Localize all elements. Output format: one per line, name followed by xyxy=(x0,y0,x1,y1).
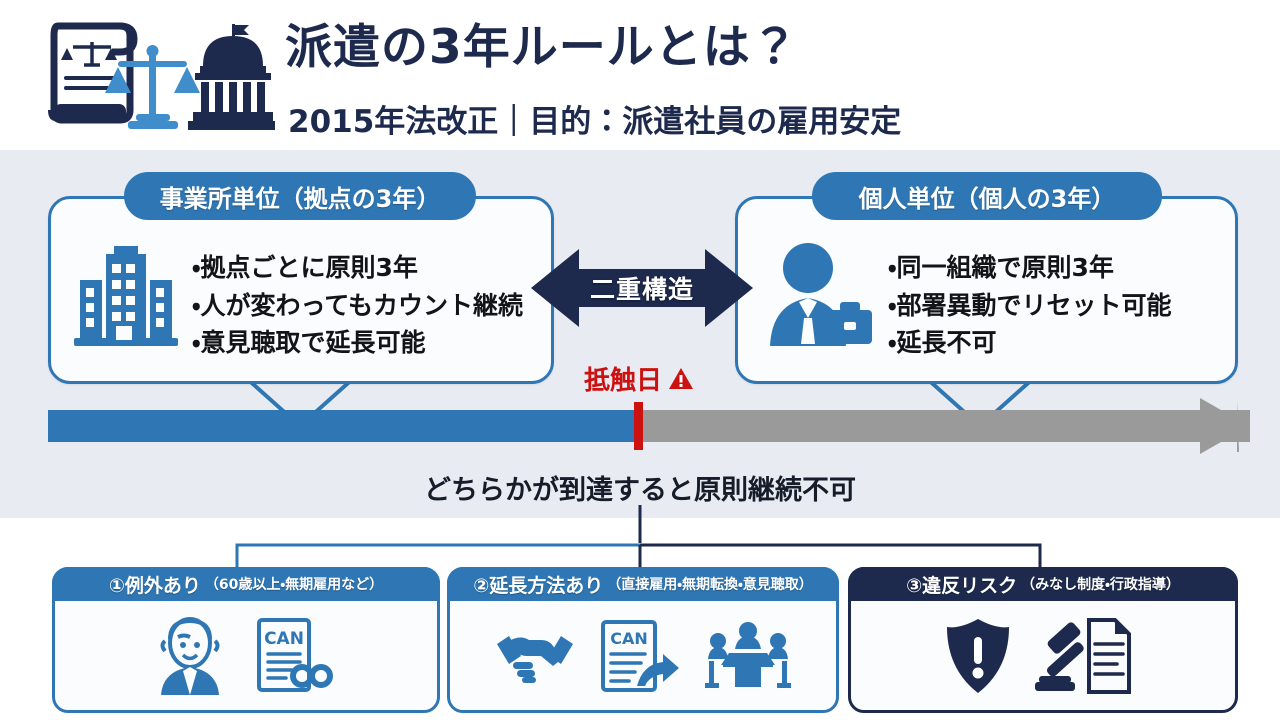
businessperson-icon xyxy=(760,238,878,350)
government-building-icon xyxy=(188,24,275,130)
double-headed-arrow-icon xyxy=(531,243,753,333)
teikatsu-date-label: 抵触日 xyxy=(584,360,694,397)
page-subtitle: 2015年法改正｜目的：派遣社員の雇用安定 xyxy=(288,96,901,141)
infographic-root: 派遣の3年ルールとは？ 2015年法改正｜目的：派遣社員の雇用安定 事業所単位（… xyxy=(0,0,1280,720)
exceptions-card-detail: （60歳以上・無期雇用など） xyxy=(205,574,383,594)
bullet-item: ・意見聴取で延長可能 xyxy=(192,325,523,361)
bullet-item: ・人が変わってもカウント継続 xyxy=(192,288,523,324)
timeline-caption: どちらかが到達すると原則継続不可 xyxy=(0,468,1280,507)
handshake-icon xyxy=(495,626,575,686)
violation-risk-card-header: ③違反リスク （みなし制度・行政指導） xyxy=(848,567,1238,601)
exceptions-card[interactable]: ①例外あり （60歳以上・無期雇用など） CAN xyxy=(52,567,440,713)
extension-methods-card-icons: CAN xyxy=(450,606,836,706)
warning-triangle-icon xyxy=(668,367,694,391)
elderly-person-icon xyxy=(151,615,229,697)
svg-text:CAN: CAN xyxy=(264,629,304,649)
header: 派遣の3年ルールとは？ 2015年法改正｜目的：派遣社員の雇用安定 xyxy=(0,0,1280,150)
svg-text:CAN: CAN xyxy=(610,629,648,648)
page-title: 派遣の3年ルールとは？ xyxy=(285,22,799,74)
bullet-item: ・延長不可 xyxy=(888,325,1172,361)
extension-methods-card[interactable]: ②延長方法あり （直接雇用・無期転換・意見聴取） CAN xyxy=(447,567,839,713)
timeline-remaining-bar xyxy=(640,398,1250,454)
violation-risk-card[interactable]: ③違反リスク （みなし制度・行政指導） xyxy=(848,567,1238,713)
header-icon-group xyxy=(40,18,275,133)
gavel-document-icon xyxy=(1033,616,1141,696)
timeline-elapsed-bar xyxy=(48,410,640,442)
extension-methods-card-detail: （直接雇用・無期転換・意見聴取） xyxy=(607,574,813,594)
personal-unit-card-header: 個人単位（個人の3年） xyxy=(812,172,1162,220)
violation-risk-card-detail: （みなし制度・行政指導） xyxy=(1021,574,1180,594)
violation-risk-card-icons xyxy=(851,606,1235,706)
teikatsu-date-text: 抵触日 xyxy=(584,360,662,397)
extension-methods-card-header: ②延長方法あり （直接雇用・無期転換・意見聴取） xyxy=(447,567,839,601)
exceptions-card-header: ①例外あり （60歳以上・無期雇用など） xyxy=(52,567,440,601)
three-year-timeline xyxy=(40,398,1250,454)
meeting-table-icon xyxy=(705,619,791,693)
bullet-item: ・部署異動でリセット可能 xyxy=(888,288,1172,324)
exceptions-card-number: ①例外あり xyxy=(109,571,201,598)
office-unit-bullets: ・拠点ごとに原則3年 ・人が変わってもカウント継続 ・意見聴取で延長可能 xyxy=(192,250,523,363)
office-building-icon xyxy=(70,240,180,350)
violation-risk-card-number: ③違反リスク xyxy=(906,571,1017,598)
can-document-infinity-icon: CAN xyxy=(251,616,341,696)
extension-methods-card-number: ②延長方法あり xyxy=(473,571,603,598)
bullet-item: ・同一組織で原則3年 xyxy=(888,250,1172,286)
teikatsu-marker xyxy=(634,402,643,450)
office-unit-card-header: 事業所単位（拠点の3年） xyxy=(124,172,476,220)
exceptions-card-icons: CAN xyxy=(55,606,437,706)
shield-alert-icon xyxy=(945,617,1011,695)
bullet-item: ・拠点ごとに原則3年 xyxy=(192,250,523,286)
can-document-arrow-icon: CAN xyxy=(597,618,683,694)
personal-unit-bullets: ・同一組織で原則3年 ・部署異動でリセット可能 ・延長不可 xyxy=(888,250,1172,363)
